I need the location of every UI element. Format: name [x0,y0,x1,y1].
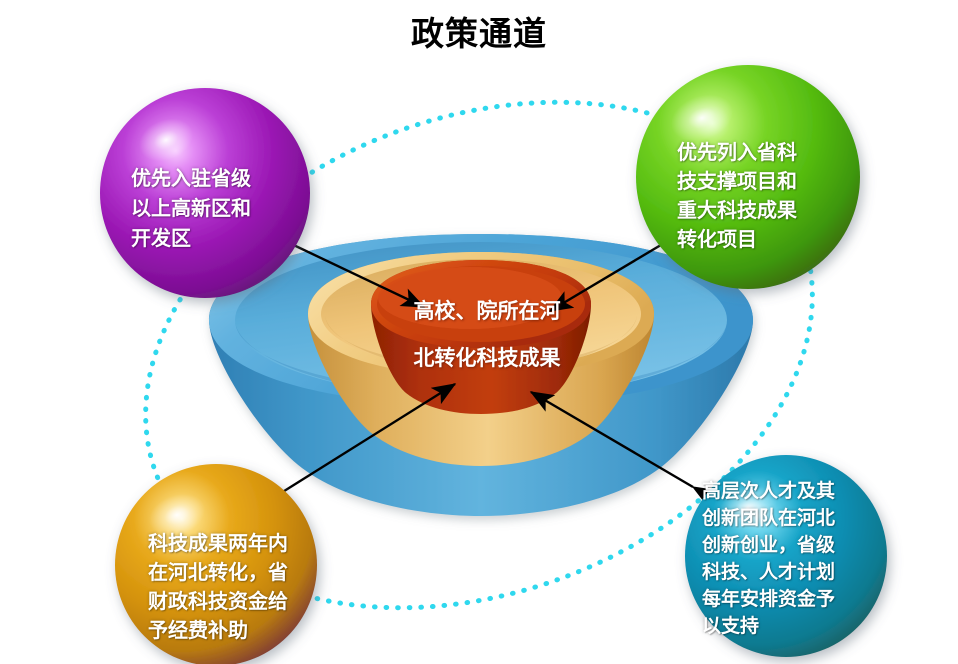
policy-sphere-green[interactable] [636,65,860,289]
inner-bowl [371,260,591,414]
diagram-canvas: 政策通道 优先入驻省级 以上高新区和 开发区 优先列入省科 技支撑项目和 重大科… [0,0,958,664]
policy-sphere-gold[interactable] [115,464,317,664]
policy-sphere-purple[interactable] [100,88,310,298]
diagram-svg [0,0,958,664]
policy-sphere-teal[interactable] [685,455,887,657]
